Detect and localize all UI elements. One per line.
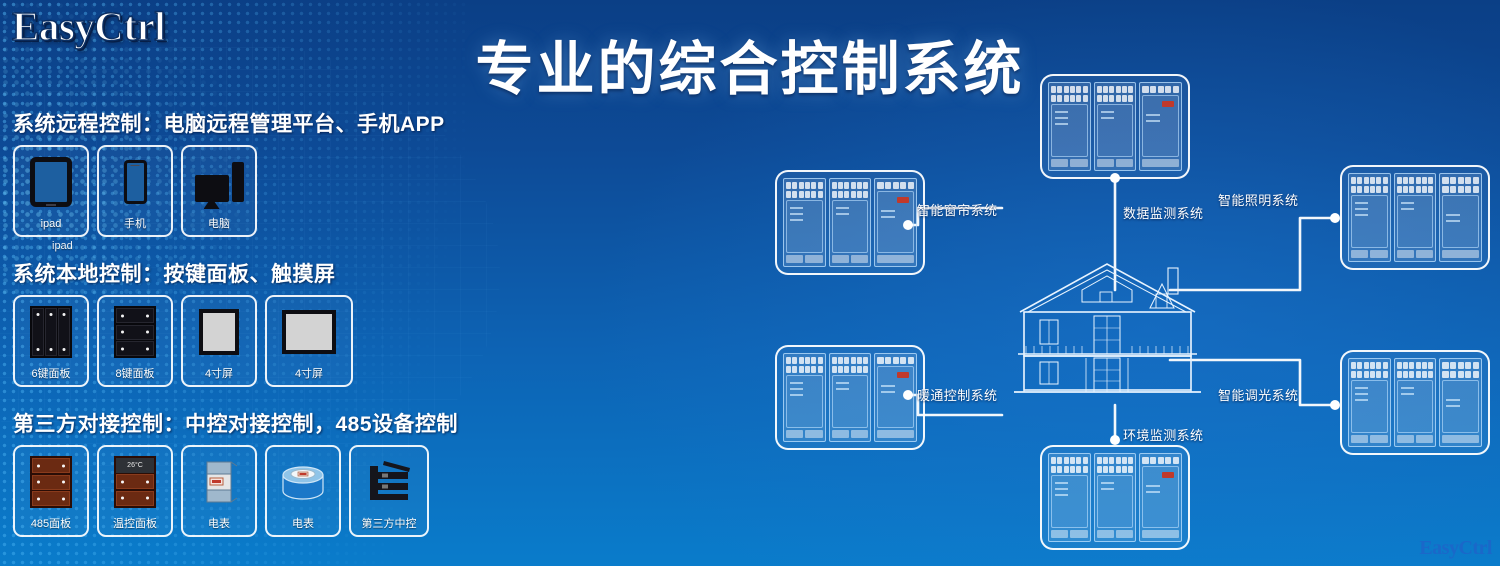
din-module-display	[1139, 453, 1182, 542]
section-third-party-control: 第三方对接控制：中控对接控制，485设备控制 485面板 26°C 温控面板	[0, 408, 460, 537]
system-network-diagram: 智能窗帘系统 数据监测系统 智能照明系统 暖通控制系统 环境监测系统 智能调光系…	[740, 60, 1500, 560]
device-card-phone[interactable]: 手机	[97, 145, 173, 237]
device-card-6key-panel[interactable]: 6键面板	[13, 295, 89, 387]
din-module-display	[1439, 173, 1482, 262]
controller-module-card-curtain[interactable]	[775, 170, 925, 275]
device-card-row: 6键面板 8键面板 4寸屏 4寸屏	[0, 295, 460, 387]
device-card-label: 485面板	[31, 517, 71, 531]
device-card-label: 电表	[208, 517, 230, 531]
thermostat-temperature-readout: 26°C	[116, 458, 154, 473]
device-card-row: ipad 手机 电脑	[0, 145, 460, 237]
controller-module-card-hvac[interactable]	[775, 345, 925, 450]
ipad-secondary-label: ipad	[52, 240, 73, 252]
device-card-ipad[interactable]: ipad	[13, 145, 89, 237]
din-module	[1094, 453, 1137, 542]
four-inch-screen-icon	[183, 297, 255, 367]
controller-module-card-data[interactable]	[1040, 74, 1190, 179]
din-module	[1048, 82, 1091, 171]
section-title: 系统远程控制：电脑远程管理平台、手机APP	[0, 108, 460, 138]
node-label-dimming: 智能调光系统	[1218, 385, 1298, 404]
din-module	[829, 353, 872, 442]
din-module	[783, 353, 826, 442]
device-card-485-panel[interactable]: 485面板	[13, 445, 89, 537]
din-module	[1094, 82, 1137, 171]
device-card-label: 手机	[124, 217, 146, 231]
device-card-meter[interactable]: 电表	[181, 445, 257, 537]
node-label-lighting: 智能照明系统	[1218, 190, 1298, 209]
din-module	[1048, 453, 1091, 542]
device-card-label: 电脑	[208, 217, 230, 231]
round-meter-icon	[267, 447, 339, 517]
six-key-panel-icon	[15, 297, 87, 367]
brand-watermark: EasyCtrl	[1419, 537, 1492, 560]
din-module	[783, 178, 826, 267]
device-card-8key-panel[interactable]: 8键面板	[97, 295, 173, 387]
tablet-icon	[15, 147, 87, 217]
device-card-round-meter[interactable]: 电表	[265, 445, 341, 537]
device-card-label: ipad	[41, 217, 62, 231]
desktop-computer-icon	[183, 147, 255, 217]
device-card-4inch-screen[interactable]: 4寸屏	[181, 295, 257, 387]
din-module	[1394, 173, 1437, 262]
smartphone-icon	[99, 147, 171, 217]
din-module	[1394, 358, 1437, 447]
device-card-label: 温控面板	[113, 517, 157, 531]
controller-module-card-environment[interactable]	[1040, 445, 1190, 550]
section-remote-control: 系统远程控制：电脑远程管理平台、手机APP ipad 手机 电脑	[0, 108, 460, 237]
controller-module-card-dimming[interactable]	[1340, 350, 1490, 455]
villa-house-icon	[1010, 250, 1205, 400]
device-card-4inch-screen-wide[interactable]: 4寸屏	[265, 295, 353, 387]
din-module-display	[874, 353, 917, 442]
controller-module-card-lighting[interactable]	[1340, 165, 1490, 270]
node-label-environment: 环境监测系统	[1123, 425, 1203, 444]
device-card-label: 4寸屏	[205, 367, 233, 381]
electric-meter-icon	[183, 447, 255, 517]
device-card-computer[interactable]: 电脑	[181, 145, 257, 237]
din-module	[1348, 173, 1391, 262]
din-module-display	[874, 178, 917, 267]
four-inch-screen-wide-icon	[267, 297, 351, 367]
eight-key-panel-icon	[99, 297, 171, 367]
third-party-controller-icon	[351, 447, 427, 517]
din-module	[829, 178, 872, 267]
section-title: 系统本地控制：按键面板、触摸屏	[0, 258, 460, 288]
brand-logo: EasyCtrl	[12, 2, 165, 50]
poster-canvas: EasyCtrl 专业的综合控制系统 系统远程控制：电脑远程管理平台、手机APP…	[0, 0, 1500, 566]
node-label-data: 数据监测系统	[1123, 203, 1203, 222]
node-label-curtain: 智能窗帘系统	[917, 200, 997, 219]
device-card-third-party-controller[interactable]: 第三方中控	[349, 445, 429, 537]
din-module-display	[1439, 358, 1482, 447]
device-card-label: 6键面板	[31, 367, 70, 381]
din-module	[1348, 358, 1391, 447]
device-card-row: 485面板 26°C 温控面板	[0, 445, 460, 537]
node-label-hvac: 暖通控制系统	[917, 385, 997, 404]
thermostat-panel-icon: 26°C	[99, 447, 171, 517]
section-title: 第三方对接控制：中控对接控制，485设备控制	[0, 408, 460, 438]
device-card-thermostat-panel[interactable]: 26°C 温控面板	[97, 445, 173, 537]
rs485-panel-icon	[15, 447, 87, 517]
device-card-label: 电表	[292, 517, 314, 531]
section-local-control: 系统本地控制：按键面板、触摸屏 6键面板 8键面板 4寸屏	[0, 258, 460, 387]
device-card-label: 8键面板	[115, 367, 154, 381]
device-card-label: 第三方中控	[362, 517, 417, 531]
device-card-label: 4寸屏	[295, 367, 323, 381]
din-module-display	[1139, 82, 1182, 171]
